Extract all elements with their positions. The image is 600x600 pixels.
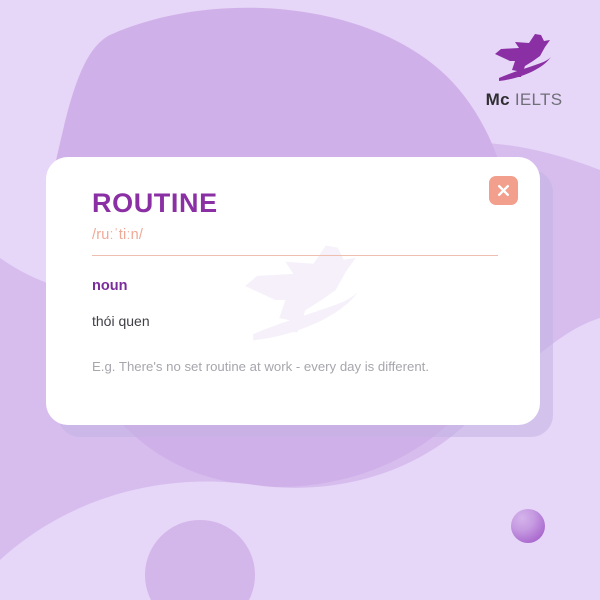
brand-logo: Mc IELTS xyxy=(478,28,570,110)
part-of-speech-label: noun xyxy=(92,278,494,294)
brand-name-secondary: IELTS xyxy=(510,90,563,109)
brand-name: Mc IELTS xyxy=(486,90,563,110)
example-sentence: E.g. There's no set routine at work - ev… xyxy=(92,359,494,374)
close-icon xyxy=(496,183,511,198)
brand-name-primary: Mc xyxy=(486,90,510,109)
definition-card: ROUTINE /ruːˈtiːn/ noun thói quen E.g. T… xyxy=(46,157,540,425)
vocabulary-card-screen: Mc IELTS ROUTINE /ruːˈtiːn/ noun thói qu… xyxy=(0,0,600,600)
word-title: ROUTINE xyxy=(92,189,494,219)
card-content: ROUTINE /ruːˈtiːn/ noun thói quen E.g. T… xyxy=(46,157,540,425)
card-divider xyxy=(92,255,498,256)
decorative-orb xyxy=(511,509,545,543)
hummingbird-logo-icon xyxy=(488,28,560,86)
translation-text: thói quen xyxy=(92,313,494,329)
phonetic-transcription: /ruːˈtiːn/ xyxy=(92,227,494,243)
close-button[interactable] xyxy=(489,176,518,205)
